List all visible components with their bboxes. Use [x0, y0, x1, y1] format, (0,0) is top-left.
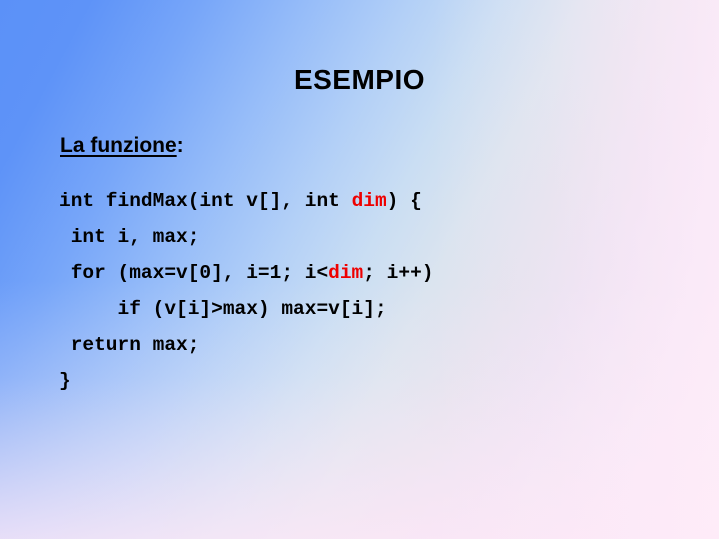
- code-token: int findMax(int v[], int: [59, 190, 352, 212]
- subtitle-underlined-text: La funzione: [60, 134, 177, 157]
- code-line: }: [59, 363, 433, 399]
- subtitle-colon: :: [177, 134, 184, 157]
- code-token: ; i++): [363, 262, 433, 284]
- code-token: return max;: [59, 334, 199, 356]
- slide-title: ESEMPIO: [0, 64, 719, 96]
- subtitle: La funzione:: [60, 134, 184, 158]
- code-line: int findMax(int v[], int dim) {: [59, 183, 433, 219]
- code-token: if (v[i]>max) max=v[i];: [59, 298, 387, 320]
- code-token: dim: [328, 262, 363, 284]
- code-token: int i, max;: [59, 226, 199, 248]
- presentation-slide: ESEMPIO La funzione: int findMax(int v[]…: [0, 0, 719, 539]
- code-token: dim: [352, 190, 387, 212]
- code-line: int i, max;: [59, 219, 433, 255]
- code-listing: int findMax(int v[], int dim) { int i, m…: [59, 183, 433, 399]
- code-line: for (max=v[0], i=1; i<dim; i++): [59, 255, 433, 291]
- code-token: ) {: [387, 190, 422, 212]
- code-line: if (v[i]>max) max=v[i];: [59, 291, 433, 327]
- code-token: for (max=v[0], i=1; i<: [59, 262, 328, 284]
- code-token: }: [59, 370, 71, 392]
- code-line: return max;: [59, 327, 433, 363]
- slide-content: ESEMPIO La funzione: int findMax(int v[]…: [0, 0, 719, 539]
